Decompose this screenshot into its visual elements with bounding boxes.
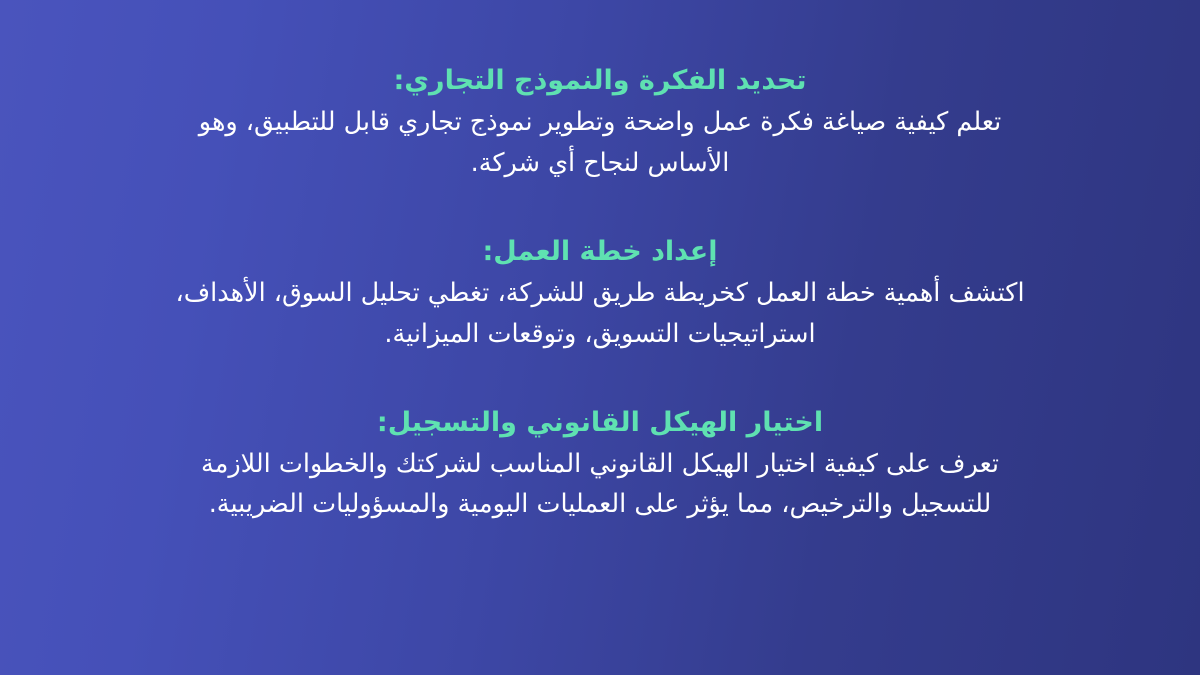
section-body-idea-and-business-model: تعلم كيفية صياغة فكرة عمل واضحة وتطوير ن… bbox=[30, 102, 1170, 183]
slide-canvas: تحديد الفكرة والنموذج التجاري: تعلم كيفي… bbox=[0, 0, 1200, 675]
body-line: للتسجيل والترخيص، مما يؤثر على العمليات … bbox=[30, 484, 1170, 524]
body-line: تعلم كيفية صياغة فكرة عمل واضحة وتطوير ن… bbox=[30, 102, 1170, 142]
body-line: تعرف على كيفية اختيار الهيكل القانوني ال… bbox=[30, 444, 1170, 484]
body-line: استراتيجيات التسويق، وتوقعات الميزانية. bbox=[30, 314, 1170, 354]
section-heading-idea-and-business-model: تحديد الفكرة والنموذج التجاري: bbox=[30, 62, 1170, 100]
section-heading-legal-structure-and-registration: اختيار الهيكل القانوني والتسجيل: bbox=[30, 404, 1170, 442]
body-line: اكتشف أهمية خطة العمل كخريطة طريق للشركة… bbox=[30, 273, 1170, 313]
content-section-legal-structure-and-registration: اختيار الهيكل القانوني والتسجيل: تعرف عل… bbox=[30, 404, 1170, 525]
content-section-idea-and-business-model: تحديد الفكرة والنموذج التجاري: تعلم كيفي… bbox=[30, 62, 1170, 183]
section-body-business-plan: اكتشف أهمية خطة العمل كخريطة طريق للشركة… bbox=[30, 273, 1170, 354]
section-heading-business-plan: إعداد خطة العمل: bbox=[30, 233, 1170, 271]
body-line: الأساس لنجاح أي شركة. bbox=[30, 143, 1170, 183]
section-body-legal-structure-and-registration: تعرف على كيفية اختيار الهيكل القانوني ال… bbox=[30, 444, 1170, 525]
content-section-business-plan: إعداد خطة العمل: اكتشف أهمية خطة العمل ك… bbox=[30, 233, 1170, 354]
